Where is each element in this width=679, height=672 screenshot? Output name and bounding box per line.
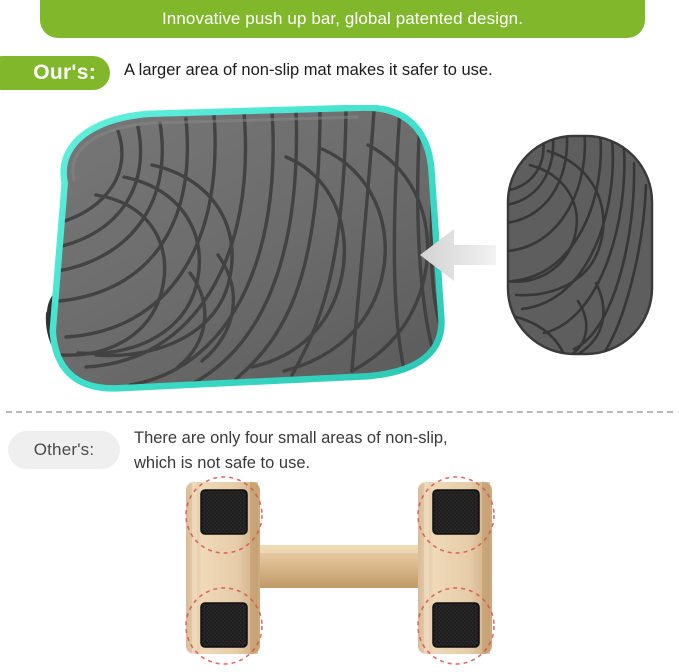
ours-product-image — [0, 105, 679, 405]
others-badge-label: Other's: — [34, 440, 95, 460]
others-badge: Other's: — [8, 431, 120, 469]
ours-description: A larger area of non-slip mat makes it s… — [124, 61, 493, 80]
section-divider — [6, 411, 673, 413]
non-slip-mat-surface — [56, 109, 440, 387]
headline-banner: Innovative push up bar, global patented … — [40, 0, 645, 38]
ours-badge: Our's: — [0, 56, 110, 90]
others-description-line-1: There are only four small areas of non-s… — [134, 426, 448, 451]
others-product-image — [0, 470, 679, 672]
wooden-cross-bar — [248, 545, 433, 588]
non-slip-mat-detail — [506, 127, 652, 357]
product-comparison-infographic: Innovative push up bar, global patented … — [0, 0, 679, 672]
headline-text: Innovative push up bar, global patented … — [162, 9, 523, 29]
others-description: There are only four small areas of non-s… — [134, 426, 448, 476]
ours-badge-label: Our's: — [33, 61, 96, 85]
